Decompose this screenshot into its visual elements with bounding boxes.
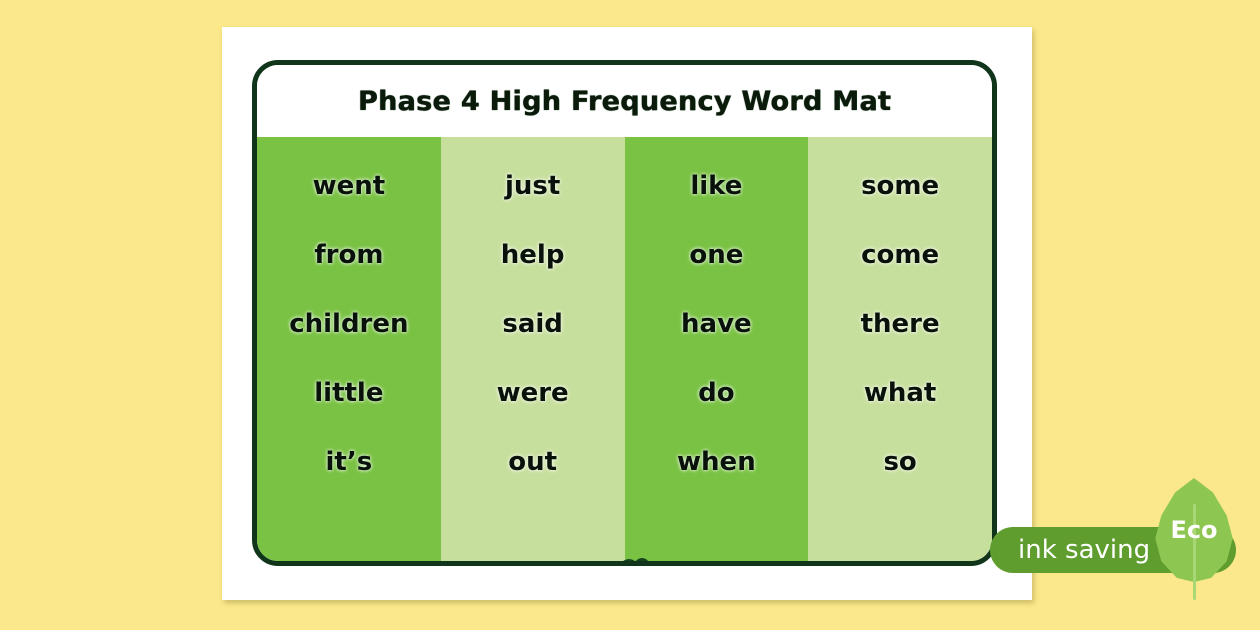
word-cell: so	[883, 427, 916, 496]
word-cell: there	[861, 289, 940, 358]
word-cell: it’s	[326, 427, 373, 496]
leaf-icon: Eco	[1151, 478, 1237, 600]
word-cell: when	[677, 427, 756, 496]
word-cell: just	[505, 151, 560, 220]
word-cell: little	[314, 358, 383, 427]
eco-label: Eco	[1151, 478, 1237, 582]
word-cell: do	[698, 358, 734, 427]
word-cell: from	[314, 220, 383, 289]
word-cell: help	[501, 220, 565, 289]
word-cell: one	[689, 220, 743, 289]
word-cell: said	[502, 289, 563, 358]
word-mat: Phase 4 High Frequency Word Mat went fro…	[252, 60, 997, 566]
word-cell: were	[497, 358, 569, 427]
word-columns: went from children little it’s just help…	[257, 137, 992, 561]
word-column-2: just help said were out	[441, 137, 625, 561]
word-cell: have	[681, 289, 752, 358]
word-cell: like	[690, 151, 742, 220]
word-cell: come	[861, 220, 939, 289]
title-band: Phase 4 High Frequency Word Mat	[257, 65, 992, 137]
word-column-4: some come there what so	[808, 137, 992, 561]
word-column-3: like one have do when	[625, 137, 809, 561]
word-column-1: went from children little it’s	[257, 137, 441, 561]
word-cell: what	[864, 358, 937, 427]
paper-sheet: Phase 4 High Frequency Word Mat went fro…	[222, 27, 1032, 600]
word-cell: children	[289, 289, 408, 358]
page-title: Phase 4 High Frequency Word Mat	[358, 86, 891, 117]
word-cell: went	[313, 151, 386, 220]
word-cell: out	[508, 427, 557, 496]
word-cell: some	[861, 151, 939, 220]
eco-badge: ink saving Eco	[988, 470, 1248, 610]
